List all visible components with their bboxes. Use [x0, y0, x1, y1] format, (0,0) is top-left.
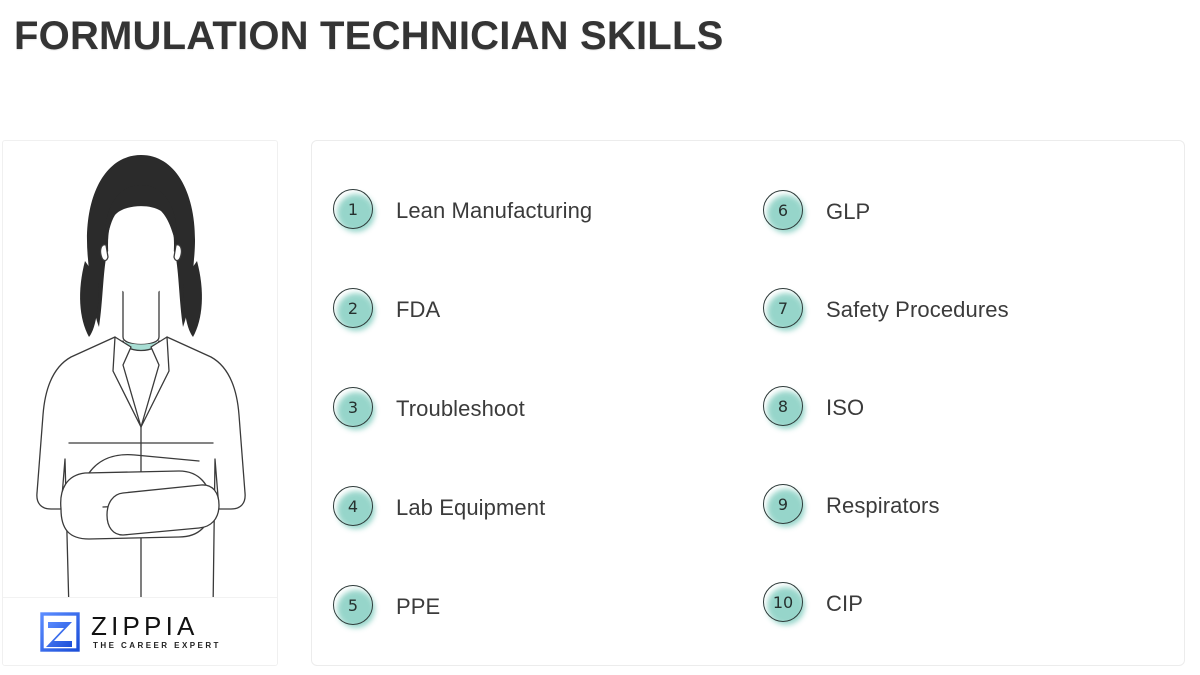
- skill-item[interactable]: 7 Safety Procedures: [760, 286, 1009, 334]
- skill-item[interactable]: 8 ISO: [760, 384, 864, 432]
- page-title: FORMULATION TECHNICIAN SKILLS: [14, 14, 723, 59]
- skill-item[interactable]: 4 Lab Equipment: [330, 484, 545, 532]
- badge-number: 6: [763, 190, 803, 230]
- skill-number-badge: 5: [330, 583, 378, 631]
- badge-number: 10: [763, 582, 803, 622]
- skill-item[interactable]: 9 Respirators: [760, 482, 940, 530]
- skill-label: PPE: [396, 594, 440, 620]
- badge-number: 7: [763, 288, 803, 328]
- skill-number-badge: 8: [760, 384, 808, 432]
- illustration-card: ZIPPIA THE CAREER EXPERT: [2, 140, 278, 666]
- skill-item[interactable]: 2 FDA: [330, 286, 440, 334]
- skills-column-right: 6 GLP 7 Safety Procedures 8 ISO: [760, 141, 1180, 665]
- skill-label: Lean Manufacturing: [396, 198, 592, 224]
- skill-label: Safety Procedures: [826, 297, 1009, 323]
- skill-item[interactable]: 10 CIP: [760, 580, 863, 628]
- badge-number: 1: [333, 189, 373, 229]
- skill-item[interactable]: 6 GLP: [760, 188, 870, 236]
- badge-number: 8: [763, 386, 803, 426]
- badge-number: 4: [333, 486, 373, 526]
- skills-panel: 1 Lean Manufacturing 2 FDA 3 Troubleshoo…: [311, 140, 1185, 666]
- skill-number-badge: 1: [330, 187, 378, 235]
- skills-column-left: 1 Lean Manufacturing 2 FDA 3 Troubleshoo…: [330, 141, 750, 665]
- skill-number-badge: 3: [330, 385, 378, 433]
- badge-number: 2: [333, 288, 373, 328]
- skill-number-badge: 2: [330, 286, 378, 334]
- skill-item[interactable]: 3 Troubleshoot: [330, 385, 525, 433]
- skill-label: Respirators: [826, 493, 940, 519]
- badge-number: 3: [333, 387, 373, 427]
- skill-label: Troubleshoot: [396, 396, 525, 422]
- skill-item[interactable]: 5 PPE: [330, 583, 440, 631]
- badge-number: 5: [333, 585, 373, 625]
- skill-label: CIP: [826, 591, 863, 617]
- zippia-tagline: THE CAREER EXPERT: [93, 642, 221, 651]
- skill-number-badge: 4: [330, 484, 378, 532]
- skill-number-badge: 6: [760, 188, 808, 236]
- skill-label: GLP: [826, 199, 870, 225]
- zippia-logo[interactable]: ZIPPIA THE CAREER EXPERT: [3, 597, 278, 665]
- lab-technician-illustration: [3, 141, 278, 611]
- skill-item[interactable]: 1 Lean Manufacturing: [330, 187, 592, 235]
- skill-number-badge: 10: [760, 580, 808, 628]
- skill-number-badge: 7: [760, 286, 808, 334]
- zippia-z-logo: [39, 611, 81, 653]
- skill-label: FDA: [396, 297, 440, 323]
- zippia-wordmark: ZIPPIA: [91, 613, 221, 640]
- badge-number: 9: [763, 484, 803, 524]
- skill-number-badge: 9: [760, 482, 808, 530]
- skill-label: ISO: [826, 395, 864, 421]
- skill-label: Lab Equipment: [396, 495, 545, 521]
